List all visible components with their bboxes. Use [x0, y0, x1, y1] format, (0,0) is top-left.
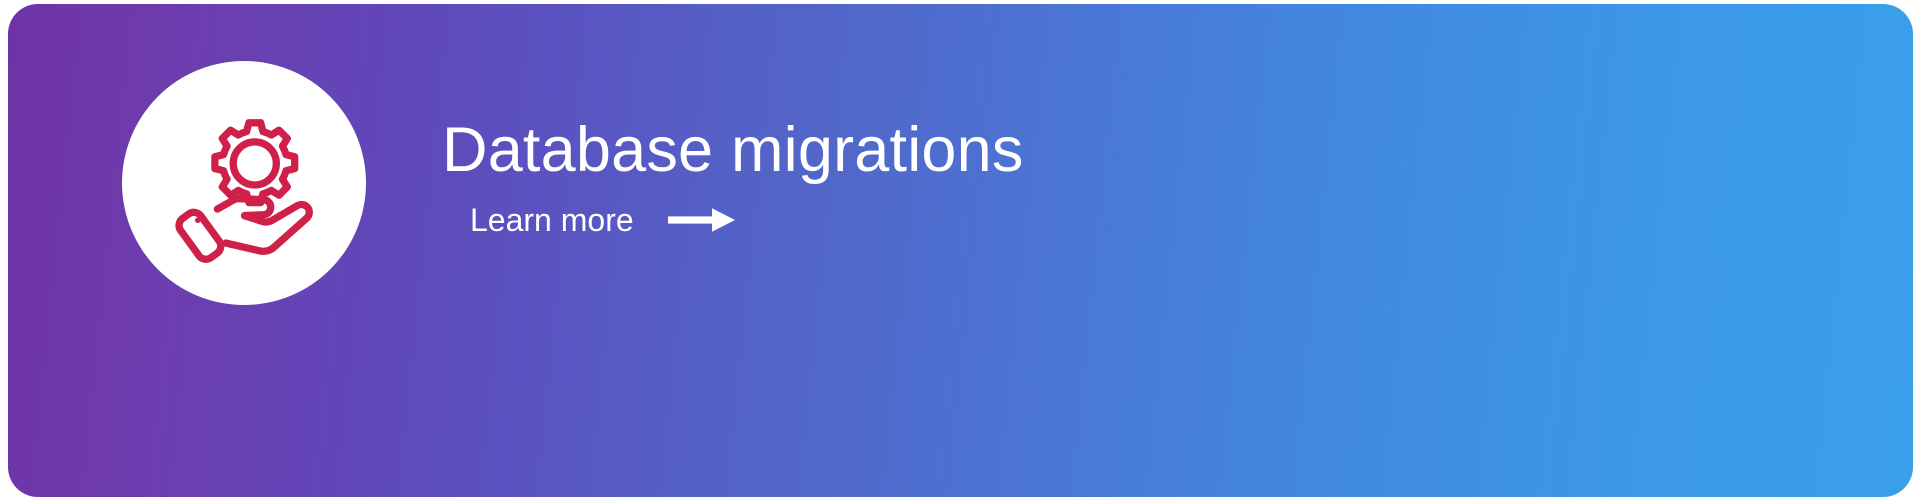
hand-holding-gear-icon [160, 99, 328, 267]
learn-more-link[interactable]: Learn more [470, 204, 736, 236]
learn-more-label: Learn more [470, 204, 634, 236]
icon-medallion [122, 61, 366, 305]
banner-text-block: Database migrations Learn more [442, 116, 1442, 236]
promo-banner-card[interactable]: Database migrations Learn more [8, 4, 1913, 497]
arrow-right-icon [668, 205, 736, 235]
page-title: Database migrations [442, 116, 1442, 184]
